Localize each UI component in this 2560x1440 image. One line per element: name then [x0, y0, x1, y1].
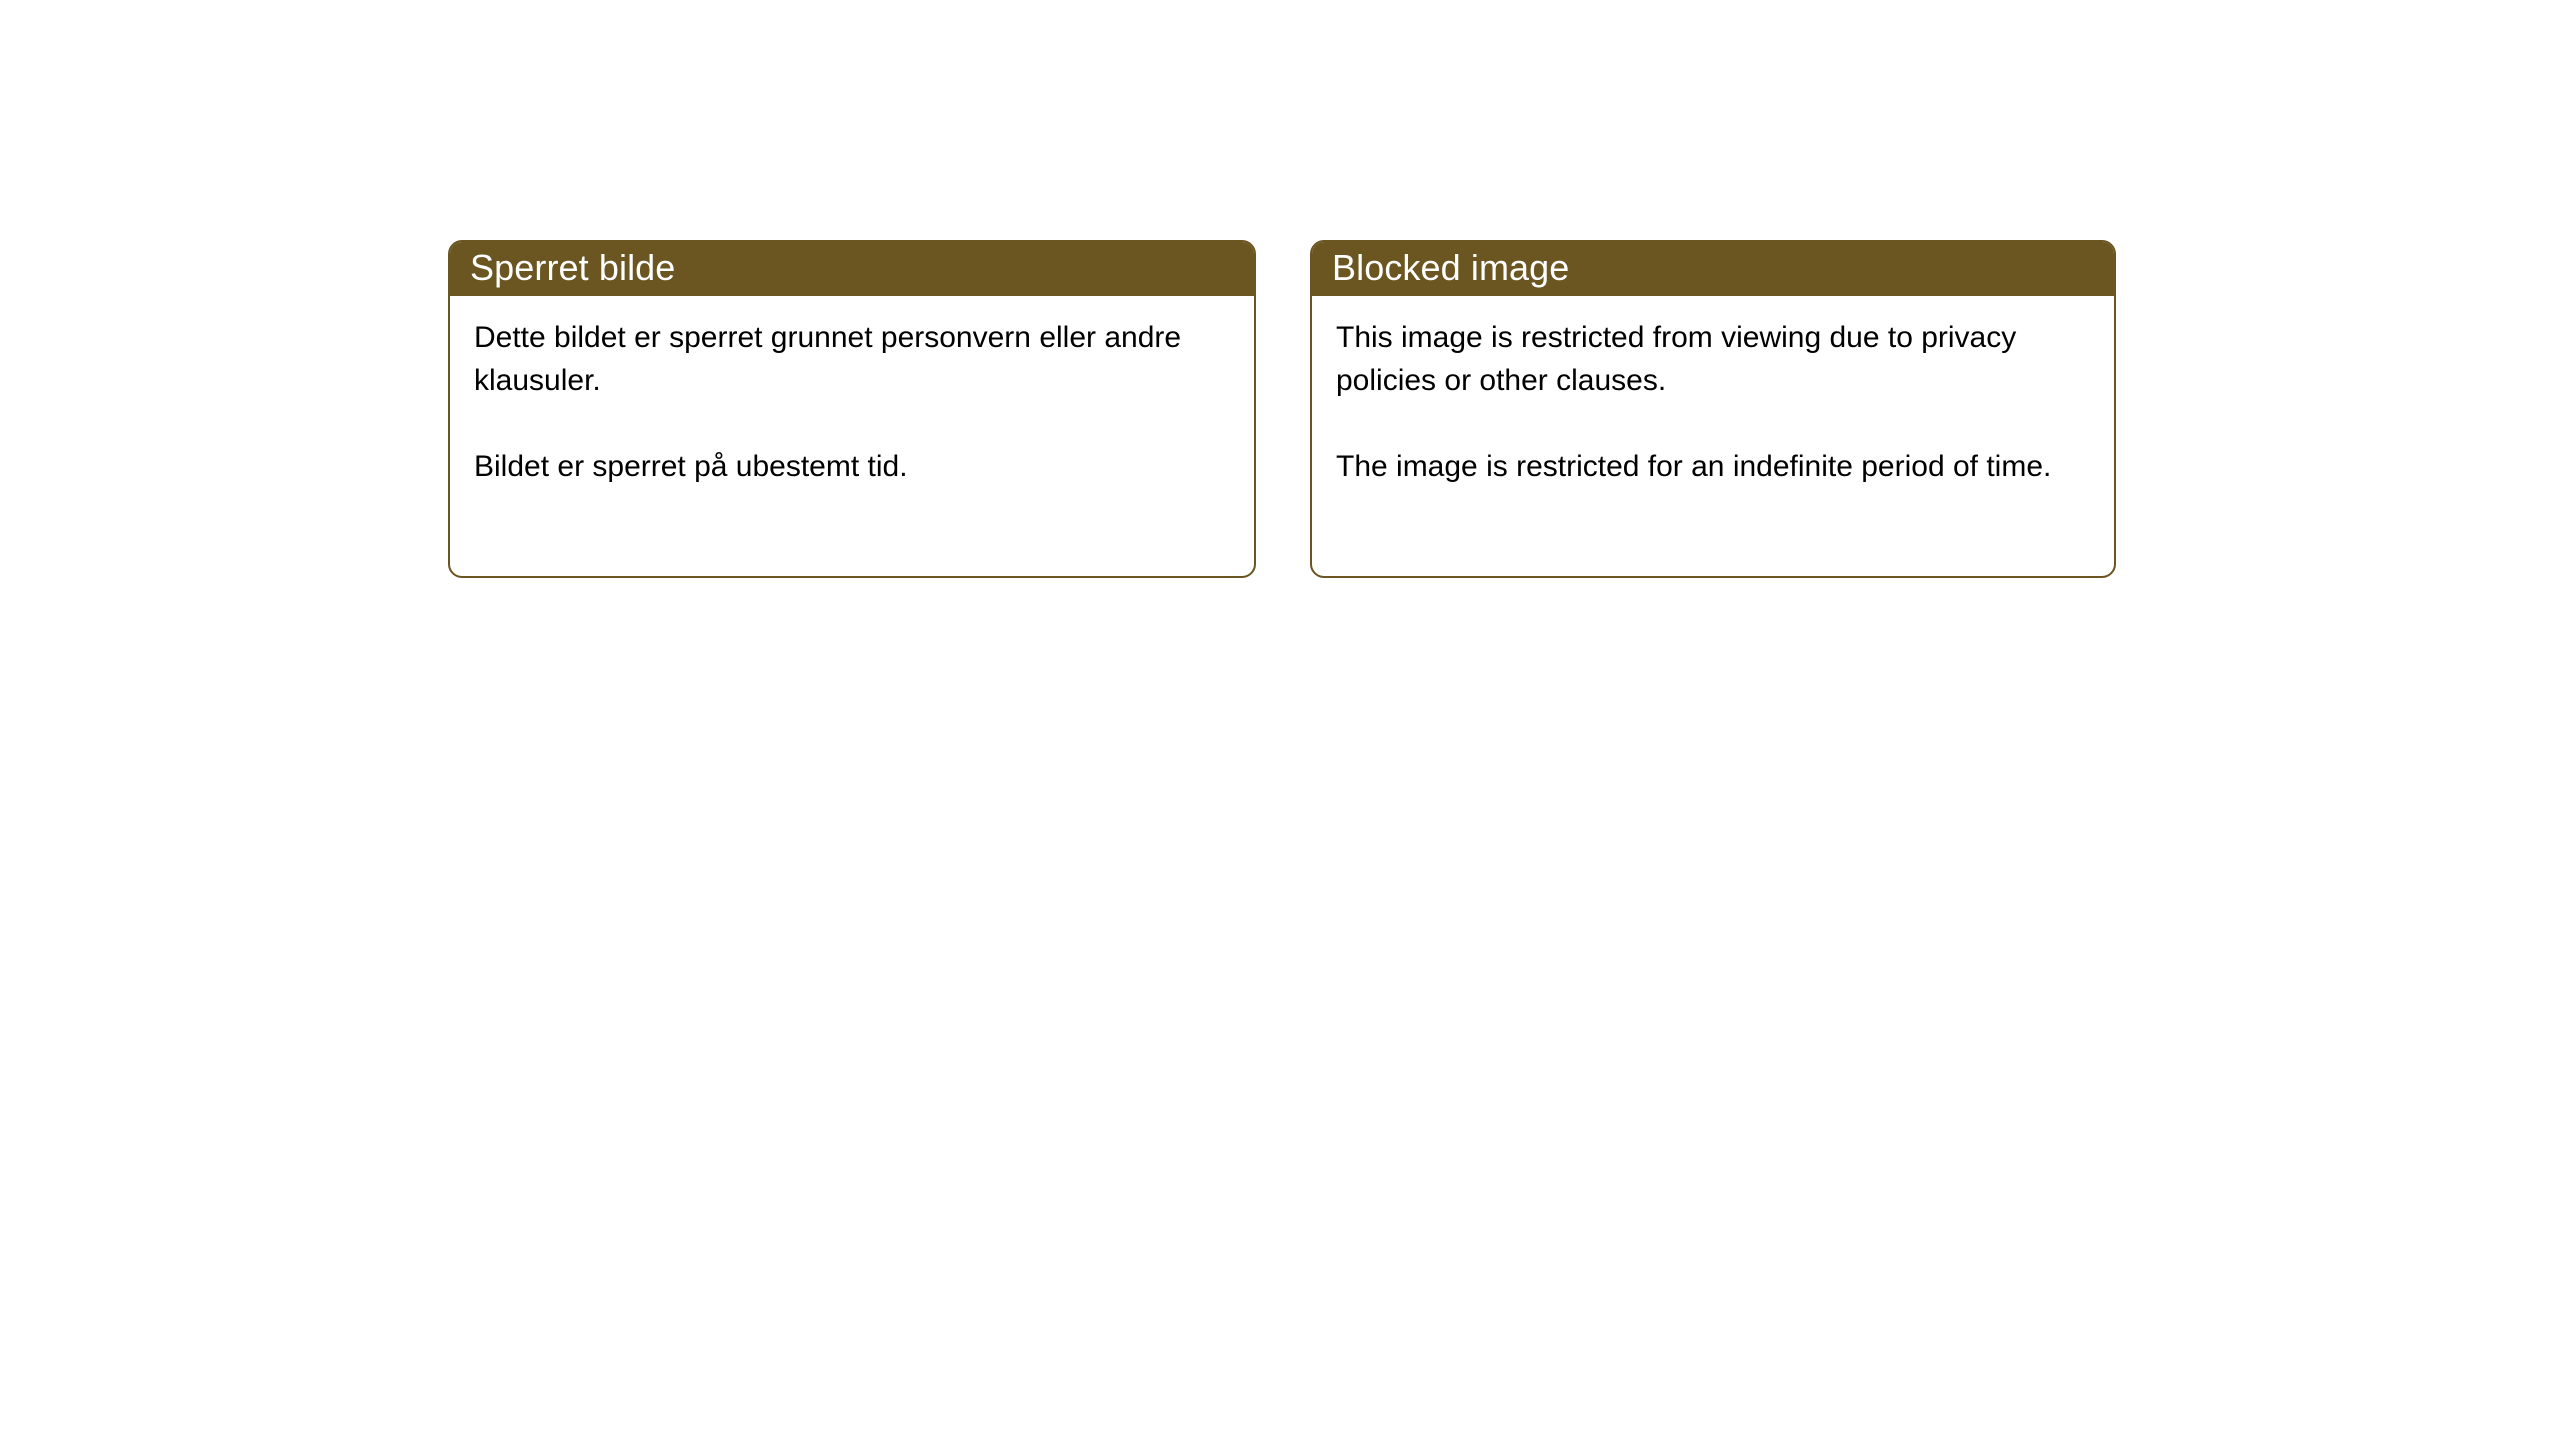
notice-body-norwegian: Dette bildet er sperret grunnet personve… [450, 296, 1254, 488]
notice-paragraph-duration-norwegian: Bildet er sperret på ubestemt tid. [474, 445, 1228, 488]
notice-paragraph-duration-english: The image is restricted for an indefinit… [1336, 445, 2088, 488]
blocked-image-notice-english: Blocked image This image is restricted f… [1310, 240, 2116, 578]
notice-paragraph-reason-norwegian: Dette bildet er sperret grunnet personve… [474, 316, 1228, 402]
notice-paragraph-reason-english: This image is restricted from viewing du… [1336, 316, 2088, 402]
notice-header-english: Blocked image [1310, 240, 2116, 296]
page-root: Sperret bilde Dette bildet er sperret gr… [0, 0, 2560, 1440]
notice-body-english: This image is restricted from viewing du… [1312, 296, 2114, 488]
notice-title-english: Blocked image [1332, 248, 1569, 288]
blocked-image-notice-norwegian: Sperret bilde Dette bildet er sperret gr… [448, 240, 1256, 578]
notice-header-norwegian: Sperret bilde [448, 240, 1256, 296]
notice-title-norwegian: Sperret bilde [470, 248, 675, 288]
